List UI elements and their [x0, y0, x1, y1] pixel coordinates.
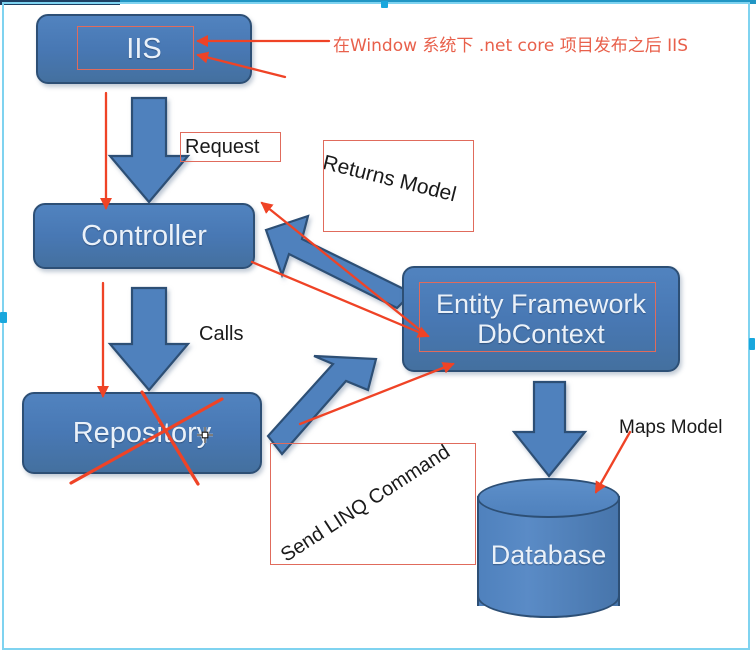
label-calls: Calls: [199, 323, 243, 346]
mouse-cursor: [196, 426, 214, 444]
arrow-ef-to-database: [513, 382, 591, 478]
annotation-box-send-linq-command: [270, 443, 476, 565]
node-database[interactable]: Database: [477, 478, 620, 618]
window-title-edge: [0, 0, 120, 5]
annotation-text-chinese: 在Window 系统下 .net core 项目发布之后 IIS: [333, 31, 688, 56]
selection-handle-right[interactable]: [749, 338, 755, 350]
annotation-box-returns-model: [323, 140, 474, 232]
diagram-canvas: IIS Controller Repository Entity Framewo…: [0, 0, 756, 656]
annotation-box-iis: [77, 26, 194, 70]
label-maps-model: Maps Model: [619, 417, 723, 439]
node-controller[interactable]: Controller: [33, 203, 255, 269]
node-repository-label: Repository: [73, 417, 212, 449]
annotation-box-entity-framework: [419, 282, 656, 352]
node-database-label: Database: [477, 540, 620, 571]
database-cylinder-bottom: [477, 574, 620, 618]
arrow-controller-to-repository: [108, 288, 194, 392]
selection-handle-top[interactable]: [381, 1, 388, 8]
selection-handle-left[interactable]: [0, 312, 7, 323]
annotation-box-request: [180, 132, 281, 162]
node-repository[interactable]: Repository: [22, 392, 262, 474]
node-controller-label: Controller: [81, 220, 207, 252]
database-cylinder-top: [477, 478, 620, 518]
